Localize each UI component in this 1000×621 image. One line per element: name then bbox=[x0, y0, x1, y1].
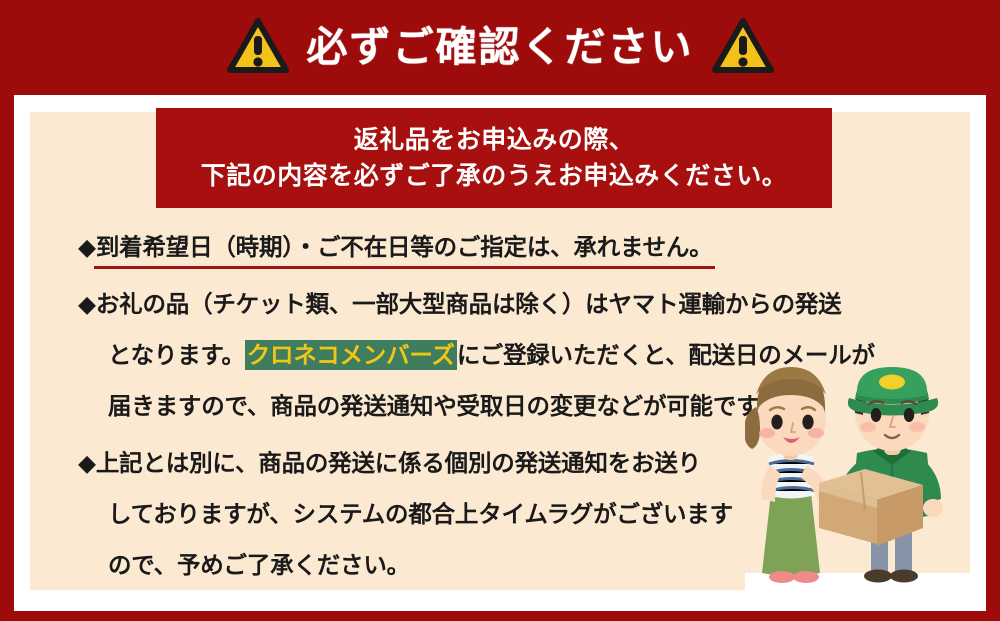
sub-banner-line-1: 返礼品をお申込みの際、 bbox=[354, 123, 635, 157]
notice-line-text: ◆到着希望日（時期）・ご不在日等のご指定は、承れません。 bbox=[78, 222, 713, 273]
notice-line-pre: となります。 bbox=[108, 341, 245, 369]
sub-banner: 返礼品をお申込みの際、 下記の内容を必ずご了承のうえお申込みください。 bbox=[156, 108, 832, 208]
notice-line: ◆お礼の品（チケット類、一部大型商品は除く）はヤマト運輸からの発送 bbox=[78, 279, 958, 330]
notice-banner: 必ずご確認ください 返礼品をお申込みの際、 下記の内容を必ずご了承のうえお申込み… bbox=[0, 0, 1000, 621]
banner-header: 必ずご確認ください bbox=[0, 0, 1000, 95]
delivery-handover-illustration bbox=[745, 365, 980, 590]
sub-banner-line-2: 下記の内容を必ずご了承のうえお申込みください。 bbox=[201, 159, 788, 193]
notice-item-1: ◆到着希望日（時期）・ご不在日等のご指定は、承れません。 bbox=[78, 222, 958, 273]
warning-triangle-icon bbox=[712, 18, 774, 78]
warning-triangle-icon bbox=[227, 18, 289, 78]
notice-line: ◆到着希望日（時期）・ご不在日等のご指定は、承れません。 bbox=[78, 222, 958, 273]
bottom-spacer bbox=[14, 590, 986, 611]
content-panel: 返礼品をお申込みの際、 下記の内容を必ずご了承のうえお申込みください。 ◆到着希… bbox=[30, 112, 970, 590]
page-title: 必ずご確認ください bbox=[307, 27, 694, 68]
kuroneko-members-highlight: クロネコメンバーズ bbox=[245, 340, 457, 370]
